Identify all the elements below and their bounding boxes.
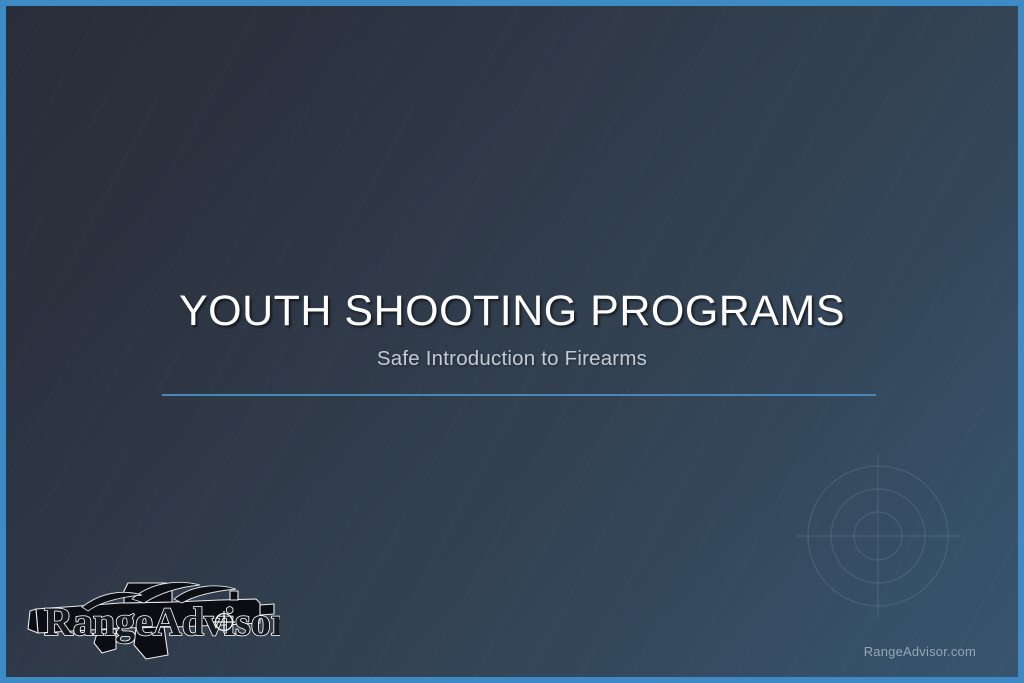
brand-logo-wordmark: RangeAdvisor <box>44 599 280 644</box>
title-divider <box>162 394 876 396</box>
footer-url: RangeAdvisor.com <box>864 644 976 659</box>
presentation-slide: YOUTH SHOOTING PROGRAMS Safe Introductio… <box>0 0 1024 683</box>
page-title: YOUTH SHOOTING PROGRAMS <box>6 287 1018 335</box>
page-subtitle: Safe Introduction to Firearms <box>6 347 1018 371</box>
title-block: YOUTH SHOOTING PROGRAMS Safe Introductio… <box>6 287 1018 371</box>
brand-logo: RangeAdvisor <box>24 569 280 665</box>
